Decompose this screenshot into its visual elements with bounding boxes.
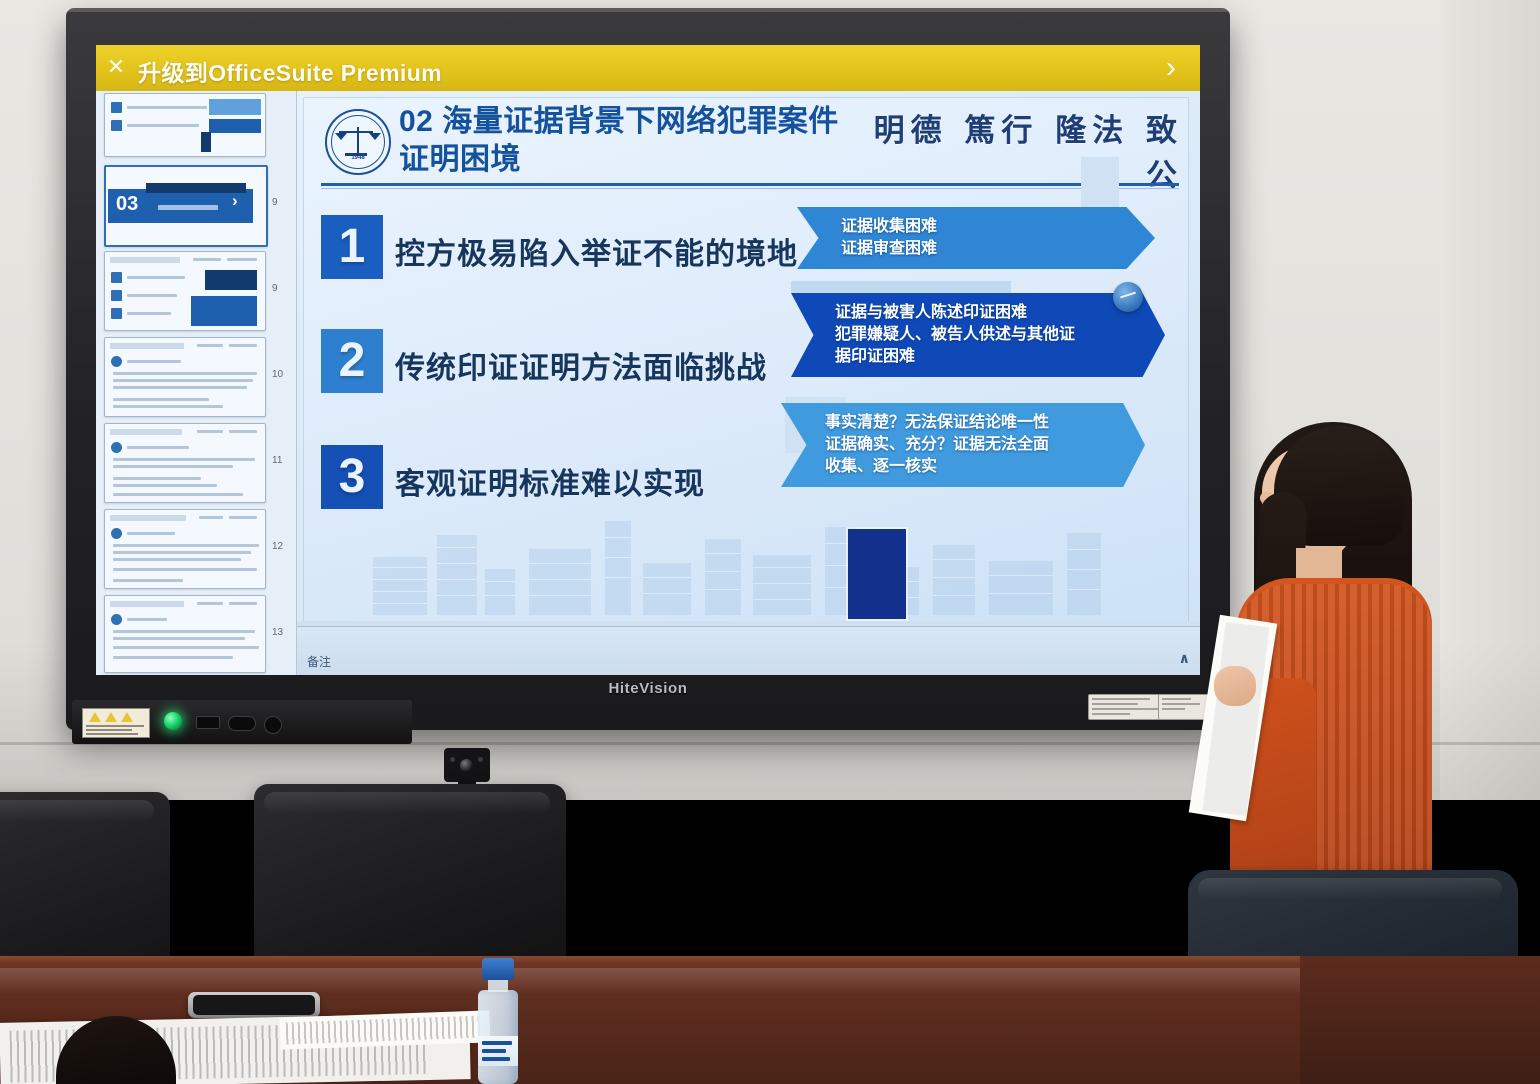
callout-3-line-2: 证据确实、充分？证据无法全面: [825, 434, 1131, 456]
bottle-label: [478, 1036, 518, 1066]
list-item[interactable]: [104, 93, 266, 157]
hdmi-port[interactable]: [228, 716, 256, 731]
callout-1-line-1: 证据收集困难: [841, 216, 1141, 238]
callout-3: 事实清楚？无法保证结论唯一性 证据确实、充分？证据无法全面 收集、逐一核实: [781, 403, 1145, 487]
slide-content: 1948 02 海量证据背景下网络犯罪案件证明困境 明德 篤行 隆法 致公 1 …: [303, 97, 1189, 625]
title-divider: [321, 183, 1179, 186]
water-bottle: [472, 958, 524, 1084]
calligraphy-motto: 明德 篤行 隆法 致公: [843, 105, 1183, 195]
screenshot-root: ✕ 升级到OfficeSuite Premium ›: [0, 0, 1540, 1084]
officesuite-upgrade-banner[interactable]: ✕ 升级到OfficeSuite Premium ›: [96, 45, 1200, 91]
item-number-badge-3: 3: [321, 445, 383, 509]
list-item[interactable]: [104, 423, 266, 503]
thumb-number: 10: [272, 369, 283, 380]
page-title: 02 海量证据背景下网络犯罪案件证明困境: [399, 103, 869, 179]
chevron-right-icon: ›: [232, 191, 238, 211]
item-number-badge-2: 2: [321, 329, 383, 393]
interactive-display: ✕ 升级到OfficeSuite Premium ›: [66, 8, 1230, 730]
thumb-number: 11: [272, 455, 282, 466]
link-badge-icon: [1113, 282, 1143, 312]
bezel-highlight: [66, 8, 1230, 12]
thumb-number: 13: [272, 627, 283, 638]
thumb-section-number: 03: [116, 193, 138, 216]
item-label-3: 客观证明标准难以实现: [395, 459, 705, 503]
table-edge: [0, 956, 1300, 964]
list-item[interactable]: [104, 251, 266, 331]
list-item[interactable]: [104, 509, 266, 589]
display-screen[interactable]: ✕ 升级到OfficeSuite Premium ›: [96, 45, 1200, 675]
display-brand-label: HiteVision: [66, 680, 1230, 697]
skyline-watermark: [333, 505, 1123, 615]
notes-label: 备注: [307, 653, 331, 670]
chevron-right-icon[interactable]: ›: [1156, 51, 1186, 85]
title-divider-thin: [321, 188, 1179, 189]
power-indicator-led[interactable]: [164, 712, 182, 730]
item-number-badge-1: 1: [321, 215, 383, 279]
callout-3-line-1: 事实清楚？无法保证结论唯一性: [825, 412, 1131, 434]
callout-2-line-3: 据印证困难: [835, 346, 1151, 368]
chevron-connector-1: [791, 281, 1011, 293]
display-control-strip[interactable]: [72, 700, 412, 744]
audio-jack[interactable]: [264, 716, 282, 734]
smartphone: [188, 992, 320, 1018]
list-item[interactable]: [104, 595, 266, 673]
list-item[interactable]: 03 ›: [104, 165, 268, 247]
table-gloss: [0, 968, 1300, 994]
usb-port[interactable]: [196, 716, 220, 729]
slide-thumbnail-panel[interactable]: 03 › 9 9: [96, 91, 297, 675]
thumb-number: 9: [272, 283, 278, 294]
close-icon[interactable]: ✕: [104, 55, 128, 79]
university-emblem-icon: 1948: [325, 109, 391, 175]
bottle-cap: [482, 958, 514, 980]
callout-2-line-1: 证据与被害人陈述印证困难: [835, 302, 1151, 324]
warning-label: [82, 708, 150, 738]
ceiling-camera: [444, 748, 490, 782]
callout-1-line-2: 证据审查困难: [841, 238, 1141, 260]
chevron-up-icon[interactable]: ∧: [1179, 650, 1190, 667]
notes-pane[interactable]: 备注 ∧: [297, 626, 1200, 675]
slide-canvas[interactable]: 1948 02 海量证据背景下网络犯罪案件证明困境 明德 篤行 隆法 致公 1 …: [297, 91, 1200, 675]
item-label-2: 传统印证证明方法面临挑战: [395, 343, 767, 387]
callout-1: 证据收集困难 证据审查困难: [797, 207, 1155, 269]
navy-accent-block: [848, 529, 906, 619]
thumb-number: 9: [272, 197, 278, 208]
list-item[interactable]: [104, 337, 266, 417]
callout-3-line-3: 收集、逐一核实: [825, 456, 1131, 478]
callout-2-line-2: 犯罪嫌疑人、被告人供述与其他证: [835, 324, 1151, 346]
item-label-1: 控方极易陷入举证不能的境地: [395, 229, 798, 273]
hand-upper: [1214, 666, 1256, 706]
callout-2: 证据与被害人陈述印证困难 犯罪嫌疑人、被告人供述与其他证 据印证困难: [791, 293, 1165, 377]
emblem-year: 1948: [327, 155, 389, 161]
thumb-number: 12: [272, 541, 283, 552]
banner-label: 升级到OfficeSuite Premium: [138, 54, 442, 88]
